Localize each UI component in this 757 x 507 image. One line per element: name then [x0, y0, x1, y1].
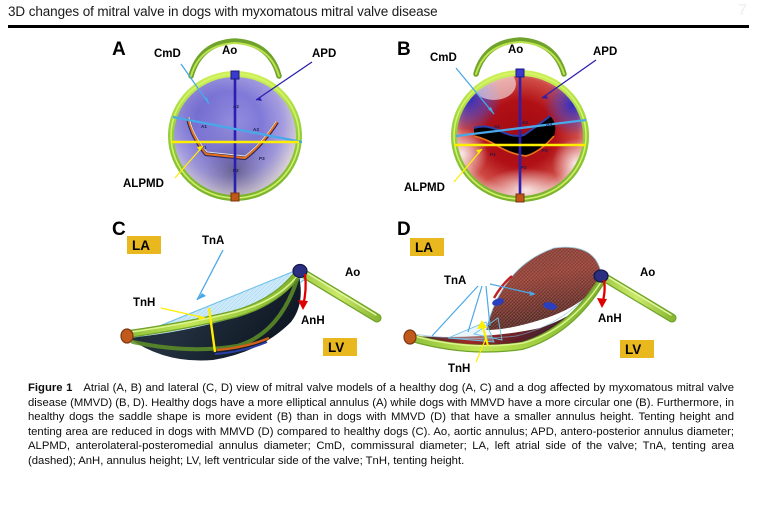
- anh-arrowhead: [597, 298, 607, 308]
- panel-a-diagram: A1 A2 A3 P1 P2 P3 CmD Ao APD ALPMD: [105, 32, 375, 217]
- label-tnh-d: TnH: [448, 363, 470, 374]
- apd-marker-bottom: [516, 194, 524, 202]
- panel-d: D: [390, 214, 680, 374]
- badge-lv-c-text: LV: [328, 340, 344, 355]
- figure-graphic: A: [0, 32, 757, 380]
- panel-d-letter: D: [397, 220, 411, 239]
- badge-lv-d-text: LV: [625, 342, 641, 357]
- header-rule: [8, 25, 749, 28]
- label-ao: Ao: [508, 44, 523, 56]
- label-ao-d: Ao: [640, 267, 655, 279]
- annulus-endpoint-left: [404, 330, 416, 344]
- label-anh-c: AnH: [301, 315, 325, 327]
- panel-c-letter: C: [112, 220, 126, 239]
- label-tna-d: TnA: [444, 275, 466, 287]
- page-number: 7: [738, 2, 747, 20]
- segment-p2: P2: [233, 168, 239, 173]
- figure-caption-text: Atrial (A, B) and lateral (C, D) view of…: [28, 382, 734, 467]
- label-cmd: CmD: [154, 48, 181, 60]
- label-alpmd: ALPMD: [404, 182, 445, 194]
- aortic-tube-highlight: [603, 274, 671, 315]
- figure-caption-label: Figure 1: [28, 382, 72, 394]
- annulus-endpoint-right: [594, 270, 608, 282]
- running-head-title: 3D changes of mitral valve in dogs with …: [8, 4, 438, 19]
- apd-marker-bottom: [231, 193, 239, 201]
- aortic-tube: [602, 276, 672, 318]
- segment-p2: P2: [521, 165, 527, 170]
- segment-p3: P3: [259, 156, 265, 161]
- segment-a2: A2: [522, 120, 528, 125]
- label-ao-c: Ao: [345, 267, 360, 279]
- badge-la-c-text: LA: [132, 238, 150, 253]
- segment-a3: A3: [253, 127, 259, 132]
- segment-p1: P1: [490, 152, 496, 157]
- aortic-tube-highlight: [302, 270, 376, 315]
- segment-a1: A1: [201, 124, 207, 129]
- tna-leader-3: [486, 286, 490, 326]
- panel-c: C: [105, 214, 395, 374]
- segment-a3: A3: [546, 122, 552, 127]
- figure-caption: Figure 1Atrial (A, B) and lateral (C, D)…: [28, 381, 734, 469]
- label-tnh-c: TnH: [133, 297, 155, 309]
- annulus-endpoint-left: [121, 329, 133, 343]
- label-tna-c: TnA: [202, 235, 224, 247]
- segment-a2: A2: [233, 104, 239, 109]
- label-cmd: CmD: [430, 52, 457, 64]
- apd-marker-top: [516, 69, 524, 77]
- tna-leader: [197, 250, 223, 300]
- badge-la-d-text: LA: [415, 240, 433, 255]
- panel-b-diagram: A1 A2 A3 P1 P2 P3 CmD Ao APD ALPMD: [390, 32, 660, 217]
- panel-a: A: [105, 32, 375, 217]
- label-alpmd: ALPMD: [123, 178, 164, 190]
- panel-d-diagram: LA LV TnA TnH AnH Ao: [390, 214, 680, 374]
- panel-b: B: [390, 32, 660, 217]
- label-apd: APD: [593, 46, 617, 58]
- panel-a-letter: A: [112, 40, 126, 59]
- segment-p3: P3: [542, 148, 548, 153]
- label-ao: Ao: [222, 45, 237, 57]
- panel-b-letter: B: [397, 40, 411, 59]
- panel-c-diagram: LA LV TnA TnH AnH Ao: [105, 214, 395, 374]
- anh-arrowhead: [298, 300, 308, 310]
- apd-marker-top: [231, 71, 239, 79]
- label-apd: APD: [312, 48, 336, 60]
- aortic-tube: [301, 272, 377, 318]
- segment-a1: A1: [494, 124, 500, 129]
- label-anh-d: AnH: [598, 313, 622, 325]
